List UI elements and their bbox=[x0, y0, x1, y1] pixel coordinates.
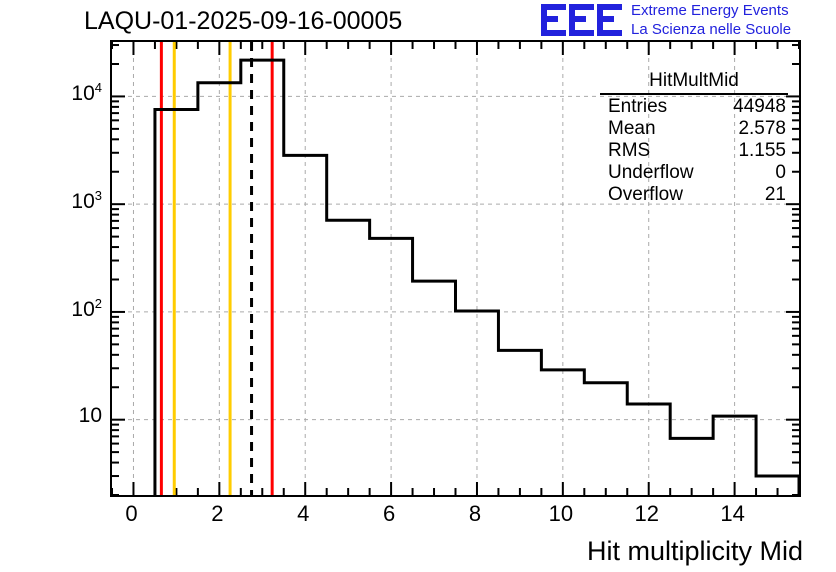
x-axis-title: Hit multiplicity Mid bbox=[587, 536, 803, 567]
stats-row: Mean2.578 bbox=[600, 118, 788, 140]
y-ticklabel: 104 bbox=[71, 80, 102, 106]
stats-row: RMS1.155 bbox=[600, 140, 788, 162]
eee-logo: Extreme Energy Events La Scienza nelle S… bbox=[541, 2, 834, 40]
page-title: LAQU-01-2025-09-16-00005 bbox=[84, 7, 402, 36]
stats-row-value: 44948 bbox=[733, 96, 786, 118]
stats-row: Entries44948 bbox=[600, 96, 788, 118]
eee-logo-text: Extreme Energy Events La Scienza nelle S… bbox=[631, 2, 791, 39]
eee-logo-line1: Extreme Energy Events bbox=[631, 2, 791, 21]
stats-row-label: Mean bbox=[608, 118, 656, 140]
plot-canvas: LAQU-01-2025-09-16-00005 Extreme Energy … bbox=[0, 0, 836, 572]
x-ticklabel: 14 bbox=[708, 501, 758, 527]
eee-logo-mark bbox=[541, 3, 623, 37]
x-ticklabel: 2 bbox=[192, 501, 242, 527]
stats-row-value: 2.578 bbox=[738, 118, 786, 140]
y-ticklabel: 102 bbox=[71, 296, 102, 322]
x-ticklabel: 4 bbox=[278, 501, 328, 527]
x-ticklabel: 10 bbox=[536, 501, 586, 527]
stats-rows: Entries44948Mean2.578RMS1.155Underflow0O… bbox=[600, 96, 788, 206]
stats-row-value: 21 bbox=[765, 184, 786, 206]
stats-row-label: Entries bbox=[608, 96, 667, 118]
x-ticklabel: 12 bbox=[622, 501, 672, 527]
stats-row-value: 0 bbox=[775, 162, 786, 184]
y-ticklabel: 103 bbox=[71, 188, 102, 214]
stats-row: Underflow0 bbox=[600, 162, 788, 184]
stats-row-value: 1.155 bbox=[738, 140, 786, 162]
x-ticklabel: 0 bbox=[106, 501, 156, 527]
stats-box: HitMultMid Entries44948Mean2.578RMS1.155… bbox=[600, 70, 788, 206]
stats-row-label: RMS bbox=[608, 140, 650, 162]
eee-logo-line2: La Scienza nelle Scuole bbox=[631, 21, 791, 40]
stats-row: Overflow21 bbox=[600, 184, 788, 206]
stats-histogram-name: HitMultMid bbox=[600, 70, 788, 95]
x-ticklabel: 6 bbox=[364, 501, 414, 527]
x-ticklabel: 8 bbox=[450, 501, 500, 527]
y-ticklabel: 10 bbox=[79, 404, 102, 428]
stats-row-label: Underflow bbox=[608, 162, 694, 184]
stats-row-label: Overflow bbox=[608, 184, 683, 206]
